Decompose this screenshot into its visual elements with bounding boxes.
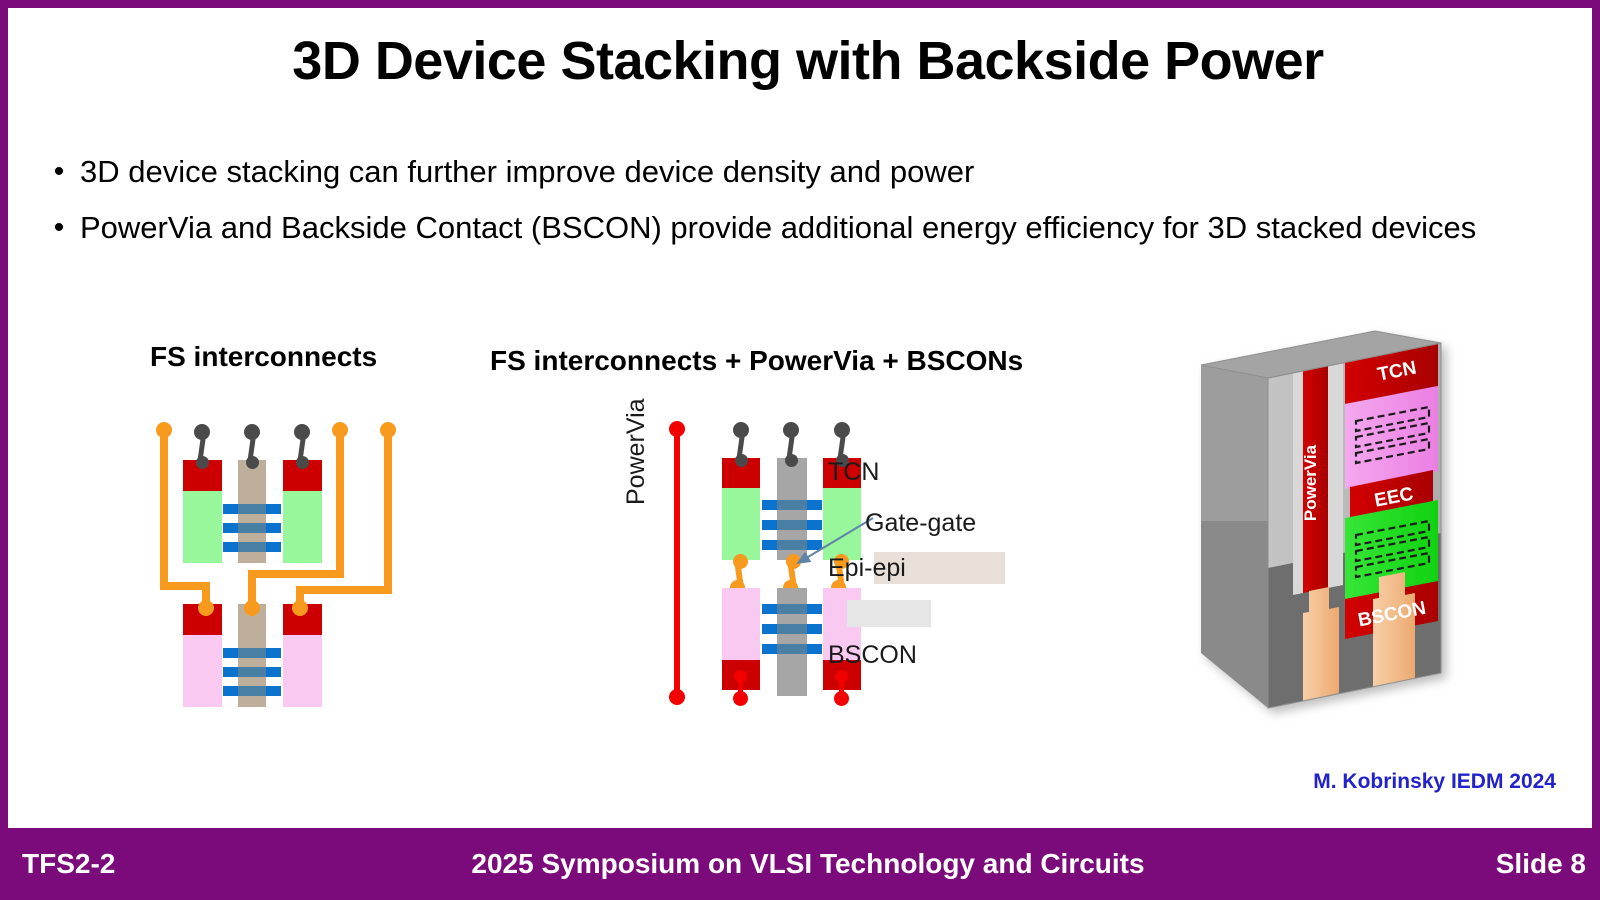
fs-wire-c-horizontal — [296, 586, 392, 594]
top-lead-endpoint-3 — [296, 456, 309, 469]
epi-body-right-top — [283, 491, 322, 563]
slide-footer: TFS2-2 2025 Symposium on VLSI Technology… — [8, 828, 1600, 900]
nanoribbon-gate-overlap-bottom-3 — [238, 686, 266, 696]
label-bscon: BSCON — [828, 641, 917, 670]
fs-wire-b-bottom-dot — [244, 600, 260, 616]
bullet-list: • 3D device stacking can further improve… — [38, 148, 1568, 260]
footer-conference-name: 2025 Symposium on VLSI Technology and Ci… — [8, 848, 1600, 880]
epi-body-left-bottom — [183, 635, 222, 707]
label-tcn: TCN — [828, 458, 879, 487]
bscon-lead-right-top-dot — [835, 670, 848, 683]
mid-top-lead-dot-2 — [783, 422, 799, 438]
epi-body-right-bottom — [283, 635, 322, 707]
left-panel-heading: FS interconnects — [150, 341, 377, 373]
fs-wire-c-bottom-dot — [292, 600, 308, 616]
bond-via-left-top-dot — [733, 554, 748, 569]
top-lead-dot-1 — [194, 424, 210, 440]
mid-top-lead-dot-1 — [733, 422, 749, 438]
bullet-text: PowerVia and Backside Contact (BSCON) pr… — [80, 204, 1500, 252]
mid-nanoribbon-gate-bottom-3 — [777, 644, 807, 654]
top-lead-dot-2 — [244, 424, 260, 440]
nanoribbon-gate-overlap-top-2 — [238, 523, 266, 533]
mid-epi-left-bottom — [722, 588, 760, 660]
fs-wire-b-horizontal — [248, 570, 344, 578]
fs-wire-c-vertical — [384, 430, 392, 594]
bscon-lead-right-bot-dot — [834, 691, 849, 706]
footer-slide-number: Slide 8 — [1496, 848, 1586, 880]
nanoribbon-gate-overlap-top-3 — [238, 542, 266, 552]
page-title: 3D Device Stacking with Backside Power — [8, 30, 1600, 92]
block-label-powervia: PowerVia — [1301, 444, 1320, 521]
label-gate-gate: Gate-gate — [865, 509, 976, 538]
bullet-marker-icon: • — [38, 204, 80, 252]
bscon-lead-left-top-dot — [734, 670, 747, 683]
block-left-face-lower — [1201, 521, 1268, 708]
block-body-group — [1201, 331, 1441, 708]
mid-nanoribbon-gate-bottom-2 — [777, 624, 807, 634]
mid-top-lead-dot-3 — [834, 422, 850, 438]
powervia-top-dot — [669, 421, 685, 437]
3d-device-block-illustration: TCN EEC BSCON PowerVia — [1193, 323, 1503, 743]
epi-body-left-top — [183, 491, 222, 563]
bullet-text: 3D device stacking can further improve d… — [80, 148, 1500, 196]
fs-wire-a-top-dot — [156, 422, 172, 438]
mid-panel-heading: FS interconnects + PowerVia + BSCONs — [490, 345, 1023, 377]
top-lead-dot-3 — [294, 424, 310, 440]
bullet-marker-icon: • — [38, 148, 80, 196]
nanoribbon-gate-overlap-top-1 — [238, 504, 266, 514]
mid-top-lead-end-2 — [785, 454, 798, 467]
fs-wire-a-bottom-dot — [198, 600, 214, 616]
powervia-bottom-dot — [669, 689, 685, 705]
fs-wire-b-top-dot — [332, 422, 348, 438]
fs-wire-c-top-dot — [380, 422, 396, 438]
label-blank-highlight — [847, 600, 931, 627]
label-epi-epi: Epi-epi — [828, 554, 906, 583]
powervia-rail — [674, 430, 680, 695]
mid-nanoribbon-gate-bottom-1 — [777, 604, 807, 614]
left-device-diagram — [138, 408, 428, 708]
bscon-lead-left-bot-dot — [733, 691, 748, 706]
top-lead-endpoint-1 — [196, 456, 209, 469]
slide-canvas: 3D Device Stacking with Backside Power •… — [0, 0, 1600, 900]
mid-epi-left-top — [722, 488, 760, 560]
block-left-face-upper — [1201, 365, 1268, 521]
nanoribbon-gate-overlap-bottom-2 — [238, 667, 266, 677]
source-credit: M. Kobrinsky IEDM 2024 — [1313, 770, 1556, 794]
fs-wire-b-vertical — [336, 430, 344, 578]
fs-wire-a-vertical — [160, 430, 168, 590]
list-item: • 3D device stacking can further improve… — [38, 148, 1568, 196]
nanoribbon-gate-overlap-bottom-1 — [238, 648, 266, 658]
dielectric-gap-right — [1328, 363, 1343, 588]
mid-top-lead-end-1 — [735, 454, 748, 467]
powervia-axis-label: PowerVia — [622, 398, 651, 505]
list-item: • PowerVia and Backside Contact (BSCON) … — [38, 204, 1568, 252]
top-lead-endpoint-2 — [246, 456, 259, 469]
